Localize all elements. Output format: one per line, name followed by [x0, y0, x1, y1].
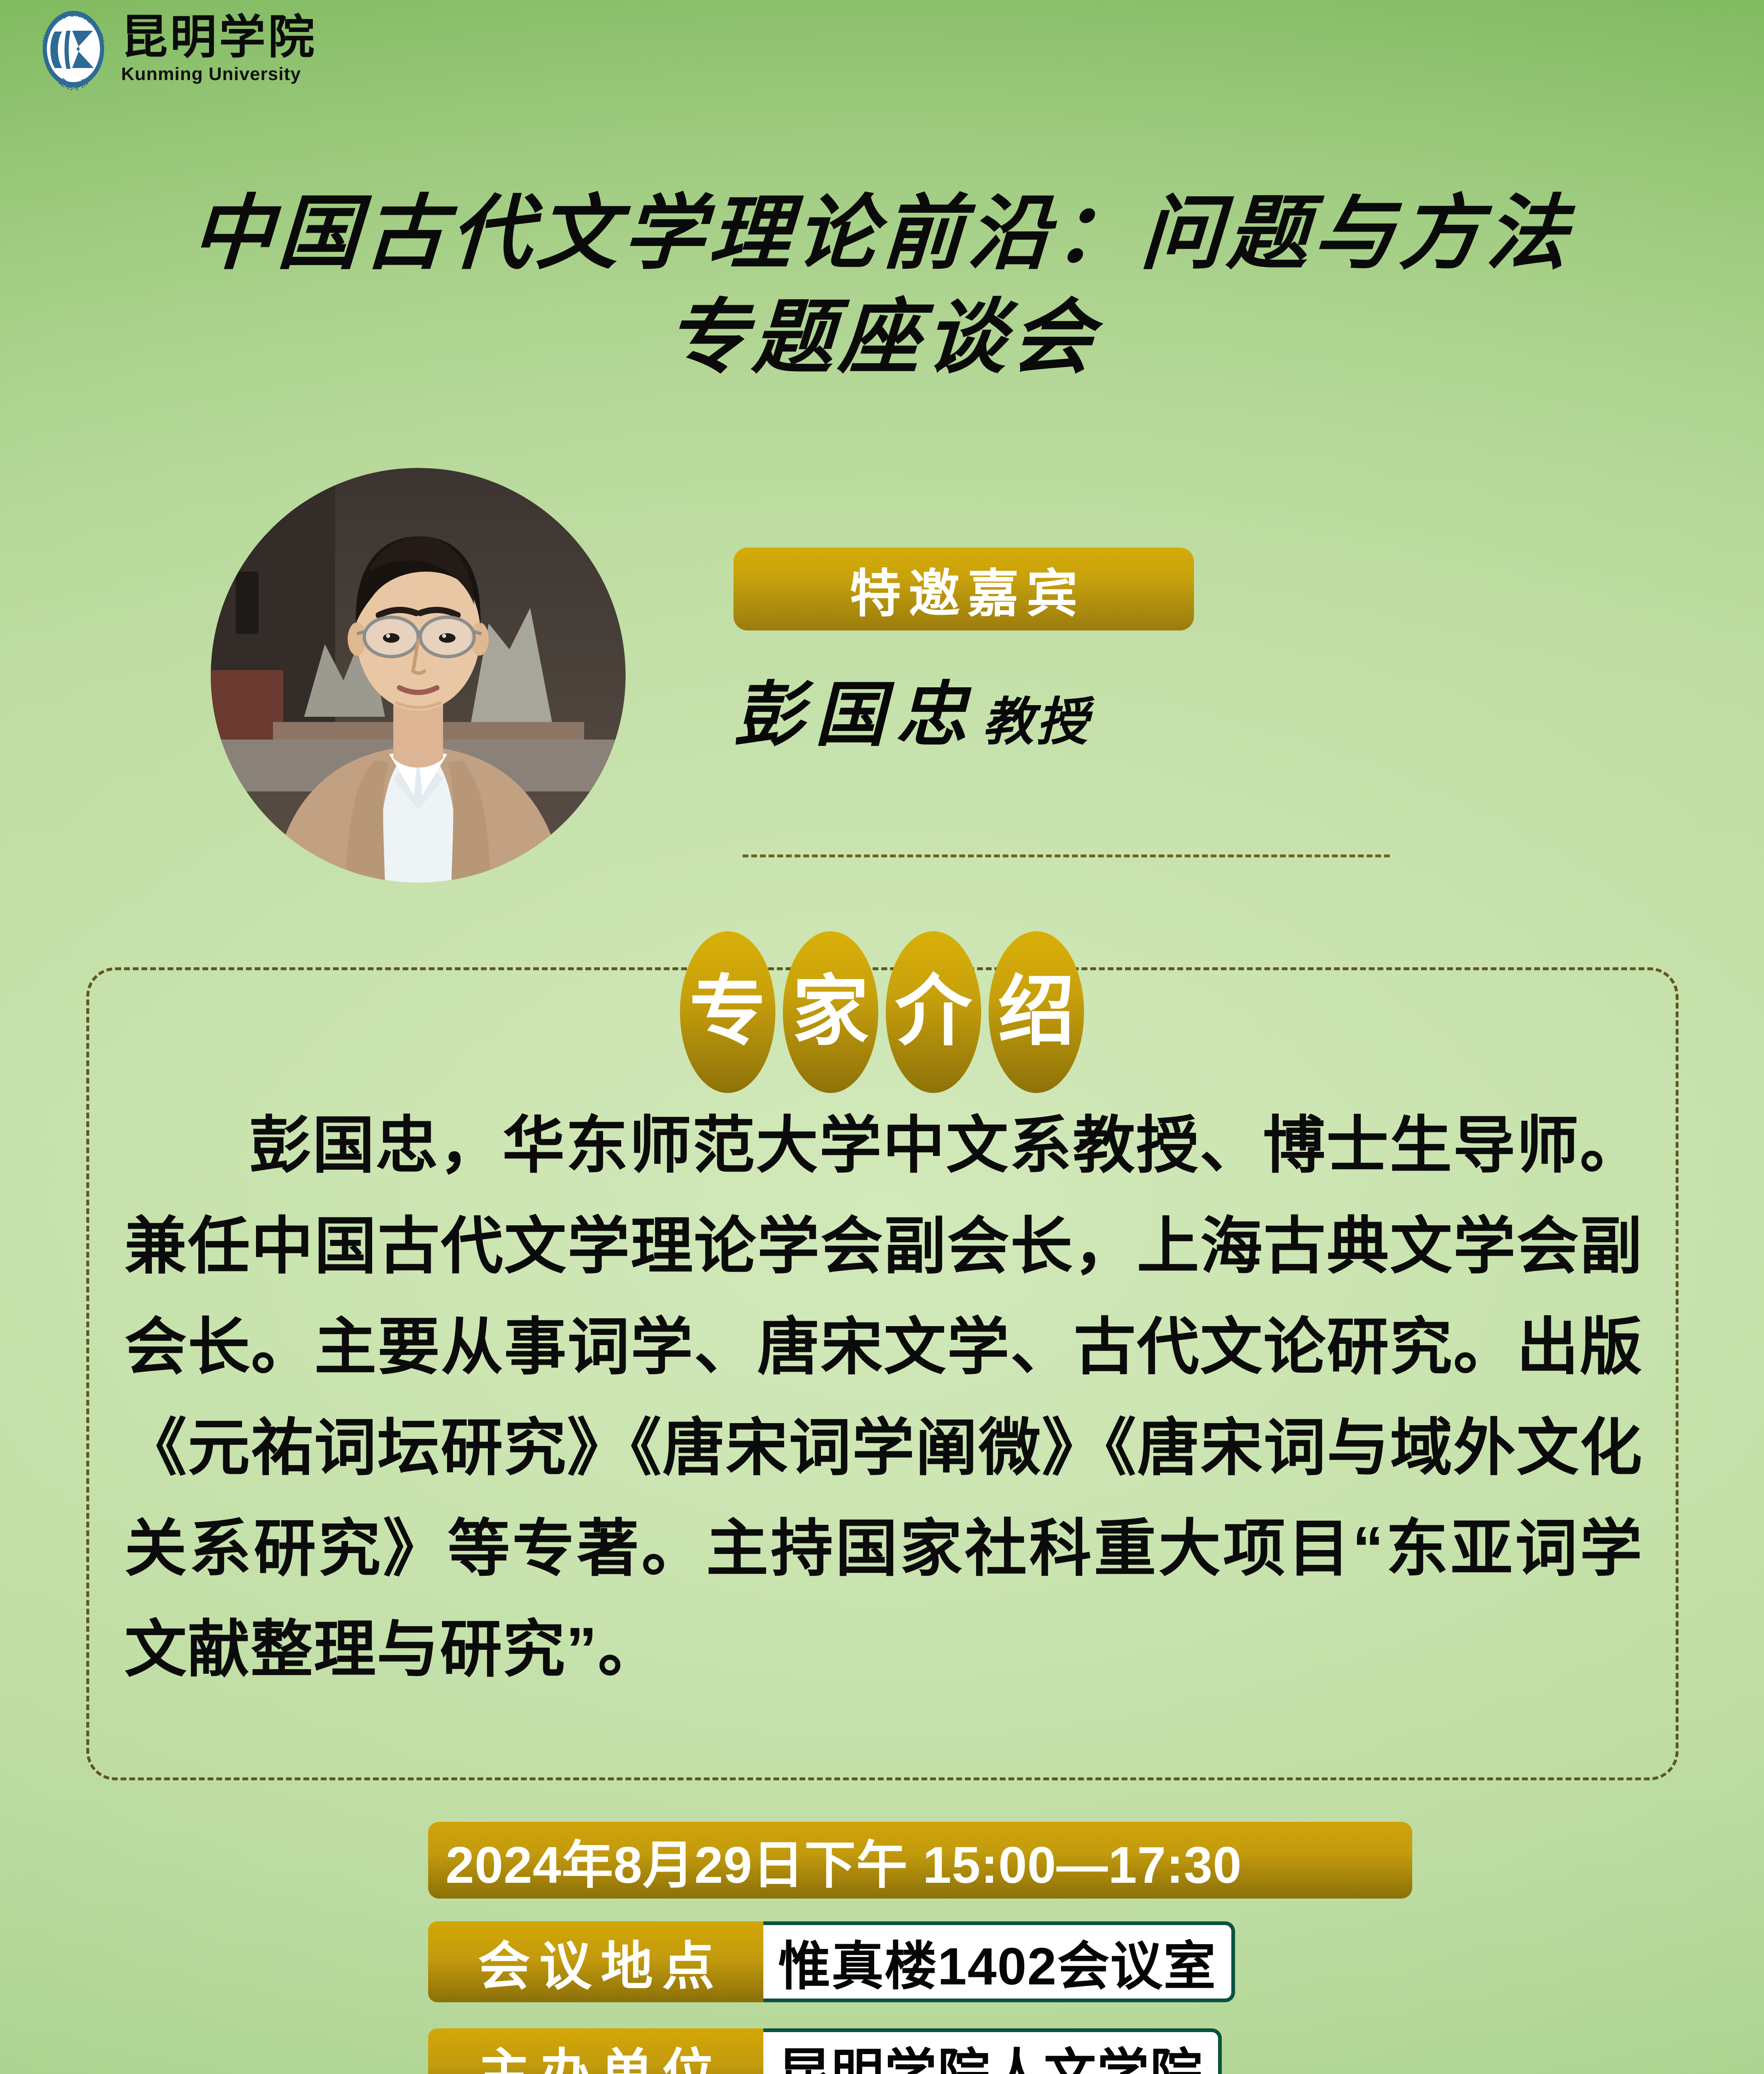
event-organizer-value-text: 昆明学院人文学院 — [778, 2031, 1203, 2074]
event-organizer-label: 主办单位 — [428, 2028, 764, 2074]
event-organizer-value: 昆明学院人文学院 — [763, 2028, 1222, 2074]
heading-char-1: 专 — [690, 974, 766, 1051]
event-organizer-label-text: 主办单位 — [469, 2031, 724, 2074]
special-guest-badge: 特邀嘉宾 — [733, 548, 1194, 630]
speaker-name-divider — [743, 854, 1390, 857]
title-line-1: 中国古代文学理论前沿：问题与方法 — [0, 183, 1764, 287]
university-name-block: 昆明学院 Kunming University — [121, 15, 317, 83]
event-location-value: 惟真楼1402会议室 — [763, 1921, 1235, 2002]
event-location-value-text: 惟真楼1402会议室 — [778, 1924, 1216, 2000]
speaker-academic-title: 教授 — [982, 680, 1090, 759]
expert-intro-heading: 专 家 介 绍 — [0, 931, 1764, 1093]
event-location-label-text: 会议地点 — [469, 1924, 724, 2000]
speaker-name-row: 彭国忠 教授 — [733, 657, 1422, 759]
event-location-label: 会议地点 — [428, 1921, 764, 2002]
heading-pill-4: 绍 — [989, 931, 1084, 1093]
heading-pill-1: 专 — [680, 931, 775, 1093]
event-datetime-box: 2024年8月29日下午 15:00—17:30 — [428, 1822, 1412, 1899]
university-logo-bar: KUNMING UNIVERSITY 昆明学院 昆明学院 Kunming Uni… — [37, 7, 317, 90]
speaker-name: 彭国忠 — [733, 657, 977, 759]
heading-pill-2: 家 — [783, 931, 878, 1093]
university-name-cn: 昆明学院 — [121, 15, 317, 61]
special-guest-label: 特邀嘉宾 — [842, 552, 1085, 626]
event-location-row: 会议地点 惟真楼1402会议室 — [428, 1921, 1235, 2002]
heading-char-4: 绍 — [998, 974, 1075, 1051]
heading-char-2: 家 — [792, 974, 869, 1051]
poster-root: KUNMING UNIVERSITY 昆明学院 昆明学院 Kunming Uni… — [0, 0, 1764, 2074]
event-datetime-text: 2024年8月29日下午 15:00—17:30 — [446, 1823, 1242, 1898]
university-name-en: Kunming University — [121, 65, 317, 83]
poster-title: 中国古代文学理论前沿：问题与方法 专题座谈会 — [0, 183, 1764, 391]
event-organizer-row: 主办单位 昆明学院人文学院 — [428, 2028, 1222, 2074]
heading-pill-3: 介 — [886, 931, 981, 1093]
title-line-2: 专题座谈会 — [0, 287, 1764, 391]
kunming-university-emblem-icon: KUNMING UNIVERSITY 昆明学院 — [37, 7, 110, 90]
expert-intro-text: 彭国忠，华东师范大学中文系教授、博士生导师。兼任中国古代文学理论学会副会长，上海… — [124, 1095, 1643, 1700]
heading-char-3: 介 — [895, 974, 972, 1051]
speaker-portrait-photo — [211, 468, 626, 883]
